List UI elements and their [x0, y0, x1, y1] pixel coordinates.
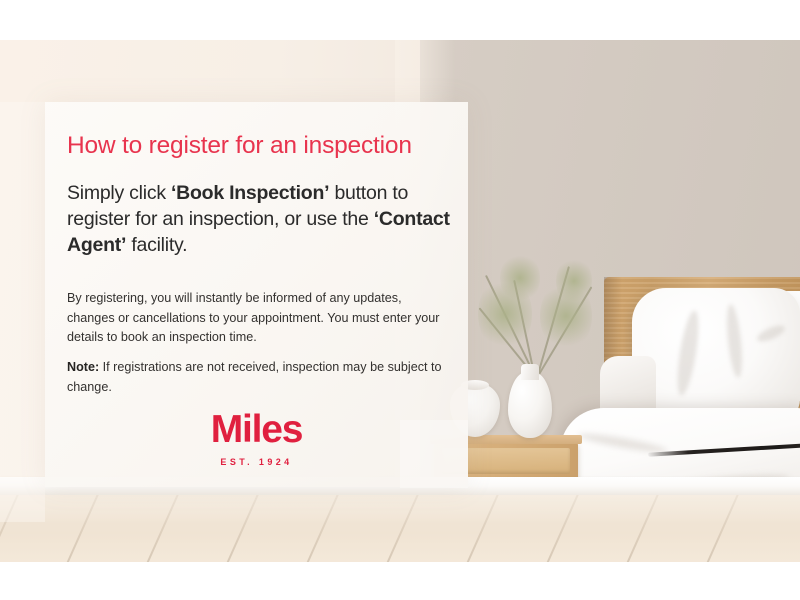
lead-text-before: Simply click: [67, 182, 171, 204]
letterbox-bottom: [0, 562, 800, 600]
wood-floor: [0, 495, 800, 562]
screenshot-stage: How to register for an inspection Simply…: [0, 0, 800, 600]
branch-foliage: [556, 256, 592, 306]
pillow-crease: [755, 322, 787, 344]
card-body-paragraph: By registering, you will instantly be in…: [67, 289, 447, 348]
tall-white-vase: [508, 372, 552, 438]
interior-photo: How to register for an inspection Simply…: [0, 40, 800, 562]
floor-sheen: [0, 495, 800, 562]
pillow-crease: [673, 309, 702, 396]
tall-vase-neck: [521, 364, 539, 380]
lead-text-after: facility.: [126, 234, 187, 256]
lead-book-inspection: ‘Book Inspection’: [171, 182, 329, 204]
pillow-crease: [724, 304, 745, 379]
card-translucent-left-edge: [0, 102, 45, 522]
letterbox-top: [0, 0, 800, 40]
note-label: Note:: [67, 360, 99, 374]
branch-foliage: [500, 252, 540, 304]
pillow-main: [632, 288, 800, 428]
note-text: If registrations are not received, inspe…: [67, 360, 442, 394]
card-heading: How to register for an inspection: [67, 133, 457, 160]
card-lead-paragraph: Simply click ‘Book Inspection’ button to…: [67, 180, 459, 258]
card-note-paragraph: Note: If registrations are not received,…: [67, 358, 447, 397]
card-translucent-corner: [400, 420, 468, 488]
